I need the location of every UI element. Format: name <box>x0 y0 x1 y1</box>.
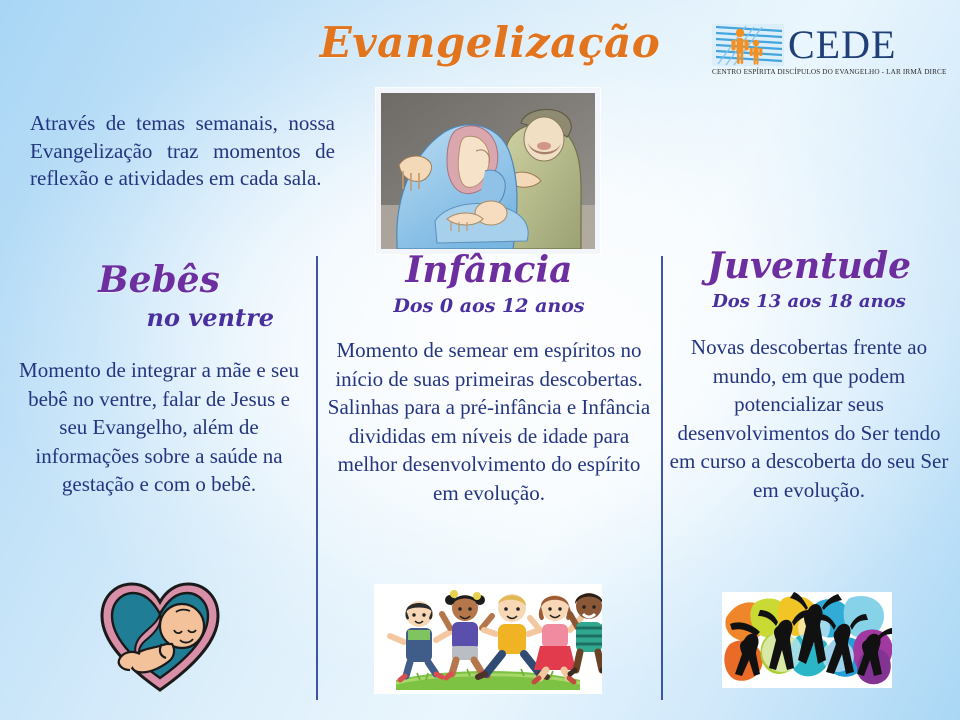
column-youth-subtitle: Dos 13 aos 18 anos <box>668 293 950 311</box>
logo-tagline: CENTRO ESPÍRITA DISCÍPULOS DO EVANGELHO … <box>712 68 930 76</box>
dancing-youth-silhouettes <box>722 592 892 688</box>
column-youth-body: Novas descobertas frente ao mundo, em qu… <box>668 333 950 504</box>
column-divider-right <box>661 256 663 700</box>
column-childhood: Infância Dos 0 aos 12 anos Momento de se… <box>325 252 653 507</box>
column-babies: Bebês no ventre Momento de integrar a mã… <box>14 262 304 499</box>
column-youth-title: Juventude <box>668 248 950 284</box>
nativity-illustration <box>376 88 600 254</box>
cede-logo: CEDE CENTRO ESPÍRITA DISCÍPULOS DO EVANG… <box>712 24 930 82</box>
column-babies-subtitle: no ventre <box>14 306 304 330</box>
column-childhood-subtitle: Dos 0 aos 12 anos <box>325 297 653 316</box>
logo-wordmark: CEDE <box>788 25 896 65</box>
slide-canvas: Evangelização <box>0 0 960 720</box>
column-babies-title: Bebês <box>14 262 304 298</box>
intro-paragraph: Através de temas semanais, nossa Evangel… <box>30 110 335 193</box>
column-childhood-body: Momento de semear em espíritos no início… <box>325 336 653 507</box>
column-childhood-title: Infância <box>325 252 653 288</box>
baby-in-heart-icon <box>96 578 224 694</box>
page-title: Evangelização <box>280 18 700 67</box>
column-youth: Juventude Dos 13 aos 18 anos Novas desco… <box>668 248 950 504</box>
column-divider-left <box>316 256 318 700</box>
column-babies-body: Momento de integrar a mãe e seu bebê no … <box>14 356 304 499</box>
logo-row: CEDE <box>712 24 930 66</box>
jumping-children-illustration <box>374 584 602 694</box>
sunburst-family-icon <box>712 24 784 66</box>
